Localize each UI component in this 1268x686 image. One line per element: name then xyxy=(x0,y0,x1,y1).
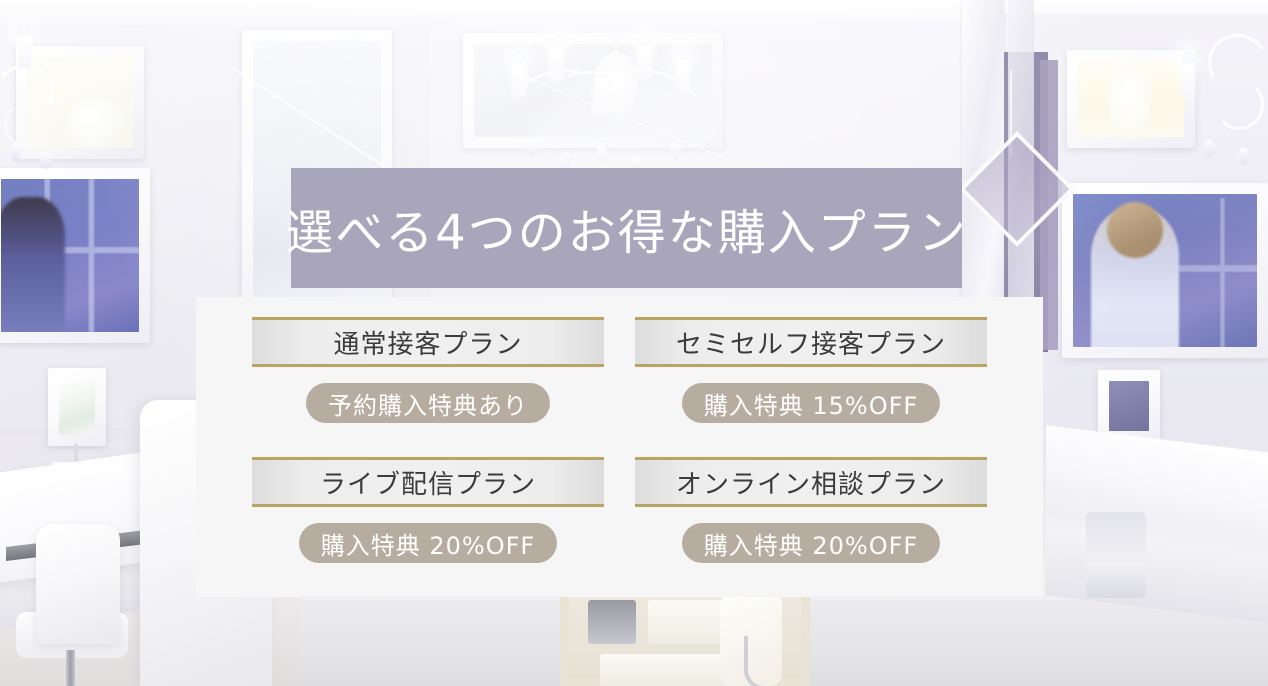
wall-sconce-icon xyxy=(1186,28,1268,188)
chandelier-candle xyxy=(550,46,563,80)
plan-name: ライブ配信プラン xyxy=(320,464,536,501)
plan-card[interactable]: オンライン相談プラン 購入特典 20%OFF xyxy=(635,457,987,597)
chair-pole xyxy=(66,650,75,686)
vase-icon xyxy=(1108,62,1152,140)
sconce-scroll xyxy=(1214,80,1264,130)
chandelier-candle xyxy=(676,58,689,92)
page-title: 選べる4つのお得な購入プラン xyxy=(285,193,968,263)
sconce-crystal xyxy=(10,144,21,161)
plan-benefit-badge: 予約購入特典あり xyxy=(306,383,550,423)
sconce-crystal xyxy=(1238,148,1249,165)
chandelier-crystal xyxy=(670,142,681,159)
plan-benefit-label: 購入特典 15%OFF xyxy=(704,386,918,421)
chandelier-icon xyxy=(498,0,738,185)
page-stage: 選べる4つのお得な購入プラン 通常接客プラン 予約購入特典あり セミセルフ接客プ… xyxy=(0,0,1268,686)
chandelier-crystal xyxy=(596,146,607,163)
wall-sconce-left-icon xyxy=(0,24,68,174)
plan-card[interactable]: ライブ配信プラン 購入特典 20%OFF xyxy=(252,457,604,597)
chandelier-crystal xyxy=(526,140,537,157)
plan-benefit-badge: 購入特典 20%OFF xyxy=(299,523,557,563)
plan-card-header: 通常接客プラン xyxy=(252,317,604,367)
candle-flame xyxy=(677,46,689,61)
mirror-reflection xyxy=(68,98,124,150)
plan-benefit-label: 購入特典 20%OFF xyxy=(704,526,918,561)
plans-panel: 通常接客プラン 予約購入特典あり セミセルフ接客プラン 購入特典 15%OFF … xyxy=(196,297,1043,597)
screen-glass xyxy=(1073,194,1257,347)
sconce-crystal xyxy=(40,152,51,169)
sconce-scroll xyxy=(4,102,50,148)
bin-icon xyxy=(1086,512,1146,598)
cushion xyxy=(648,600,724,644)
chandelier-crystal xyxy=(560,152,571,169)
plan-name: 通常接客プラン xyxy=(333,324,522,361)
plan-name: セミセルフ接客プラン xyxy=(676,324,946,361)
candle-flame xyxy=(18,22,30,37)
sconce-crystal xyxy=(1204,140,1215,157)
chair-icon xyxy=(36,524,120,644)
shelf-panel xyxy=(588,600,636,644)
person-hair xyxy=(1107,202,1163,258)
plan-card[interactable]: セミセルフ接客プラン 購入特典 15%OFF xyxy=(635,317,987,457)
plans-grid: 通常接客プラン 予約購入特典あり セミセルフ接客プラン 購入特典 15%OFF … xyxy=(196,297,1043,597)
title-banner: 選べる4つのお得な購入プラン xyxy=(291,168,962,288)
mirror-glass xyxy=(59,379,95,435)
candle-flame xyxy=(513,50,525,65)
mirror-glass xyxy=(1,179,139,332)
candle-flame xyxy=(639,32,651,47)
framed-screen-icon xyxy=(1062,183,1268,358)
desk-screen-icon xyxy=(1098,370,1160,442)
chandelier-stem xyxy=(614,0,618,60)
plan-benefit-label: 購入特典 20%OFF xyxy=(321,526,535,561)
plan-benefit-label: 予約購入特典あり xyxy=(328,386,528,421)
chandelier-candle xyxy=(594,78,607,112)
screen-glass xyxy=(1109,381,1149,431)
framed-window-mirror-icon xyxy=(0,168,150,343)
plan-card-header: オンライン相談プラン xyxy=(635,457,987,507)
plan-card-header: セミセルフ接客プラン xyxy=(635,317,987,367)
candle-flame xyxy=(551,34,563,49)
window-grid xyxy=(1169,198,1257,347)
plan-benefit-badge: 購入特典 15%OFF xyxy=(682,383,940,423)
plan-benefit-badge: 購入特典 20%OFF xyxy=(682,523,940,563)
chandelier-candle xyxy=(512,62,525,96)
plan-card-header: ライブ配信プラン xyxy=(252,457,604,507)
plan-card[interactable]: 通常接客プラン 予約購入特典あり xyxy=(252,317,604,457)
center-chair-leg xyxy=(744,636,792,686)
chandelier-candle xyxy=(638,44,651,78)
person-reflection xyxy=(1,197,65,332)
sconce-candle xyxy=(1182,62,1195,96)
desk-mirror-icon xyxy=(48,368,106,446)
candle-flame xyxy=(1182,50,1194,65)
sconce-candle xyxy=(18,34,31,68)
plan-name: オンライン相談プラン xyxy=(676,464,946,501)
